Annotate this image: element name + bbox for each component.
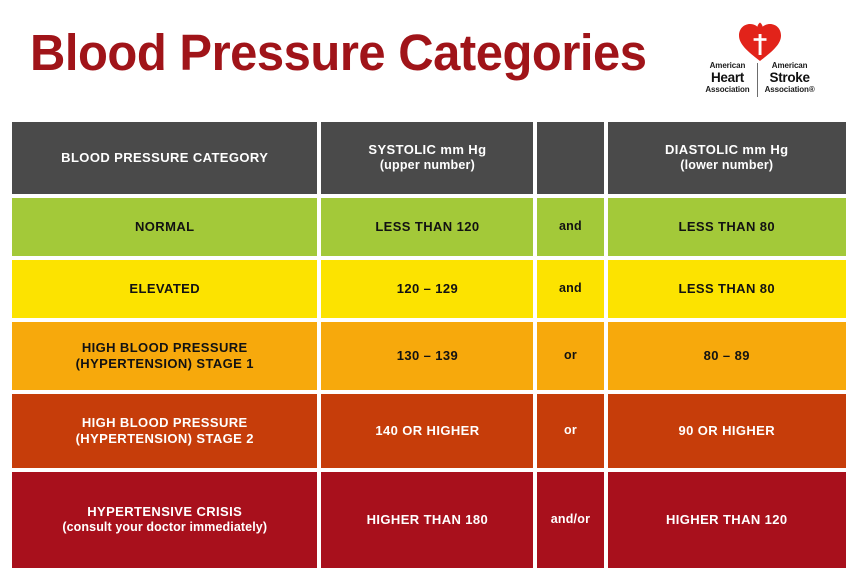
category-label: NORMAL <box>135 219 194 235</box>
aha-asa-logo: American Heart Association American Stro… <box>682 22 838 104</box>
cell-diastolic-normal: LESS THAN 80 <box>608 198 846 256</box>
cell-diastolic-elevated: LESS THAN 80 <box>608 260 846 318</box>
column-header-operator <box>537 122 603 194</box>
column-header-systolic-sublabel: (upper number) <box>380 158 475 174</box>
cell-systolic-elevated: 120 – 129 <box>321 260 533 318</box>
systolic-value: 130 – 139 <box>397 348 458 364</box>
diastolic-value: HIGHER THAN 120 <box>666 512 788 528</box>
category-label: HYPERTENSIVE CRISIS <box>87 504 242 520</box>
category-label-line2: (consult your doctor immediately) <box>62 520 267 536</box>
systolic-value: HIGHER THAN 180 <box>367 512 489 528</box>
column-header-systolic: SYSTOLIC mm Hg (upper number) <box>321 122 533 194</box>
cell-operator-normal: and <box>537 198 603 256</box>
blood-pressure-table: BLOOD PRESSURE CATEGORY SYSTOLIC mm Hg (… <box>12 122 846 568</box>
cell-diastolic-stage1: 80 – 89 <box>608 322 846 390</box>
table-row: NORMAL LESS THAN 120 and LESS THAN 80 <box>12 198 846 256</box>
column-header-category-label: BLOOD PRESSURE CATEGORY <box>61 150 268 166</box>
cell-category-elevated: ELEVATED <box>12 260 317 318</box>
page-title: Blood Pressure Categories <box>30 24 647 82</box>
logo-asa-line1: American <box>772 62 808 70</box>
cell-category-stage2: HIGH BLOOD PRESSURE (HYPERTENSION) STAGE… <box>12 394 317 468</box>
cell-operator-stage2: or <box>537 394 603 468</box>
cell-systolic-normal: LESS THAN 120 <box>321 198 533 256</box>
table-header-row: BLOOD PRESSURE CATEGORY SYSTOLIC mm Hg (… <box>12 122 846 194</box>
header-bar: Blood Pressure Categories American Heart… <box>0 0 846 122</box>
logo-asa-line2: Stroke <box>770 70 810 86</box>
category-label-line2: (HYPERTENSION) STAGE 2 <box>76 431 254 447</box>
systolic-value: 120 – 129 <box>397 281 458 297</box>
diastolic-value: 90 OR HIGHER <box>678 423 775 439</box>
cell-category-normal: NORMAL <box>12 198 317 256</box>
logo-asa-line3: Association® <box>765 86 815 94</box>
category-label: ELEVATED <box>129 281 200 297</box>
operator-value: or <box>564 423 577 439</box>
operator-value: and <box>559 219 582 235</box>
cell-systolic-stage2: 140 OR HIGHER <box>321 394 533 468</box>
systolic-value: 140 OR HIGHER <box>375 423 479 439</box>
cell-diastolic-crisis: HIGHER THAN 120 <box>608 472 846 568</box>
cell-systolic-crisis: HIGHER THAN 180 <box>321 472 533 568</box>
table-row: HYPERTENSIVE CRISIS (consult your doctor… <box>12 472 846 568</box>
logo-aha-line3: Association <box>705 86 749 94</box>
cell-category-crisis: HYPERTENSIVE CRISIS (consult your doctor… <box>12 472 317 568</box>
operator-value: and <box>559 281 582 297</box>
logo-wordmark: American Heart Association American Stro… <box>682 62 838 97</box>
logo-stroke-association: American Stroke Association® <box>758 62 822 94</box>
table-row: HIGH BLOOD PRESSURE (HYPERTENSION) STAGE… <box>12 322 846 390</box>
operator-value: and/or <box>551 512 590 528</box>
operator-value: or <box>564 348 577 364</box>
cell-systolic-stage1: 130 – 139 <box>321 322 533 390</box>
diastolic-value: 80 – 89 <box>704 348 750 364</box>
table-row: ELEVATED 120 – 129 and LESS THAN 80 <box>12 260 846 318</box>
column-header-systolic-label: SYSTOLIC mm Hg <box>368 142 486 158</box>
column-header-diastolic-label: DIASTOLIC mm Hg <box>665 142 789 158</box>
logo-heart-association: American Heart Association <box>698 62 756 94</box>
table-row: HIGH BLOOD PRESSURE (HYPERTENSION) STAGE… <box>12 394 846 468</box>
cell-diastolic-stage2: 90 OR HIGHER <box>608 394 846 468</box>
cell-operator-elevated: and <box>537 260 603 318</box>
cell-operator-stage1: or <box>537 322 603 390</box>
column-header-diastolic: DIASTOLIC mm Hg (lower number) <box>608 122 846 194</box>
diastolic-value: LESS THAN 80 <box>678 219 775 235</box>
column-header-category: BLOOD PRESSURE CATEGORY <box>12 122 317 194</box>
heart-with-torch-icon <box>738 22 782 62</box>
systolic-value: LESS THAN 120 <box>375 219 479 235</box>
cell-operator-crisis: and/or <box>537 472 603 568</box>
cell-category-stage1: HIGH BLOOD PRESSURE (HYPERTENSION) STAGE… <box>12 322 317 390</box>
logo-aha-line1: American <box>710 62 746 70</box>
logo-aha-line2: Heart <box>711 70 744 86</box>
category-label: HIGH BLOOD PRESSURE <box>82 340 248 356</box>
column-header-diastolic-sublabel: (lower number) <box>680 158 773 174</box>
diastolic-value: LESS THAN 80 <box>678 281 775 297</box>
category-label-line2: (HYPERTENSION) STAGE 1 <box>76 356 254 372</box>
category-label: HIGH BLOOD PRESSURE <box>82 415 248 431</box>
